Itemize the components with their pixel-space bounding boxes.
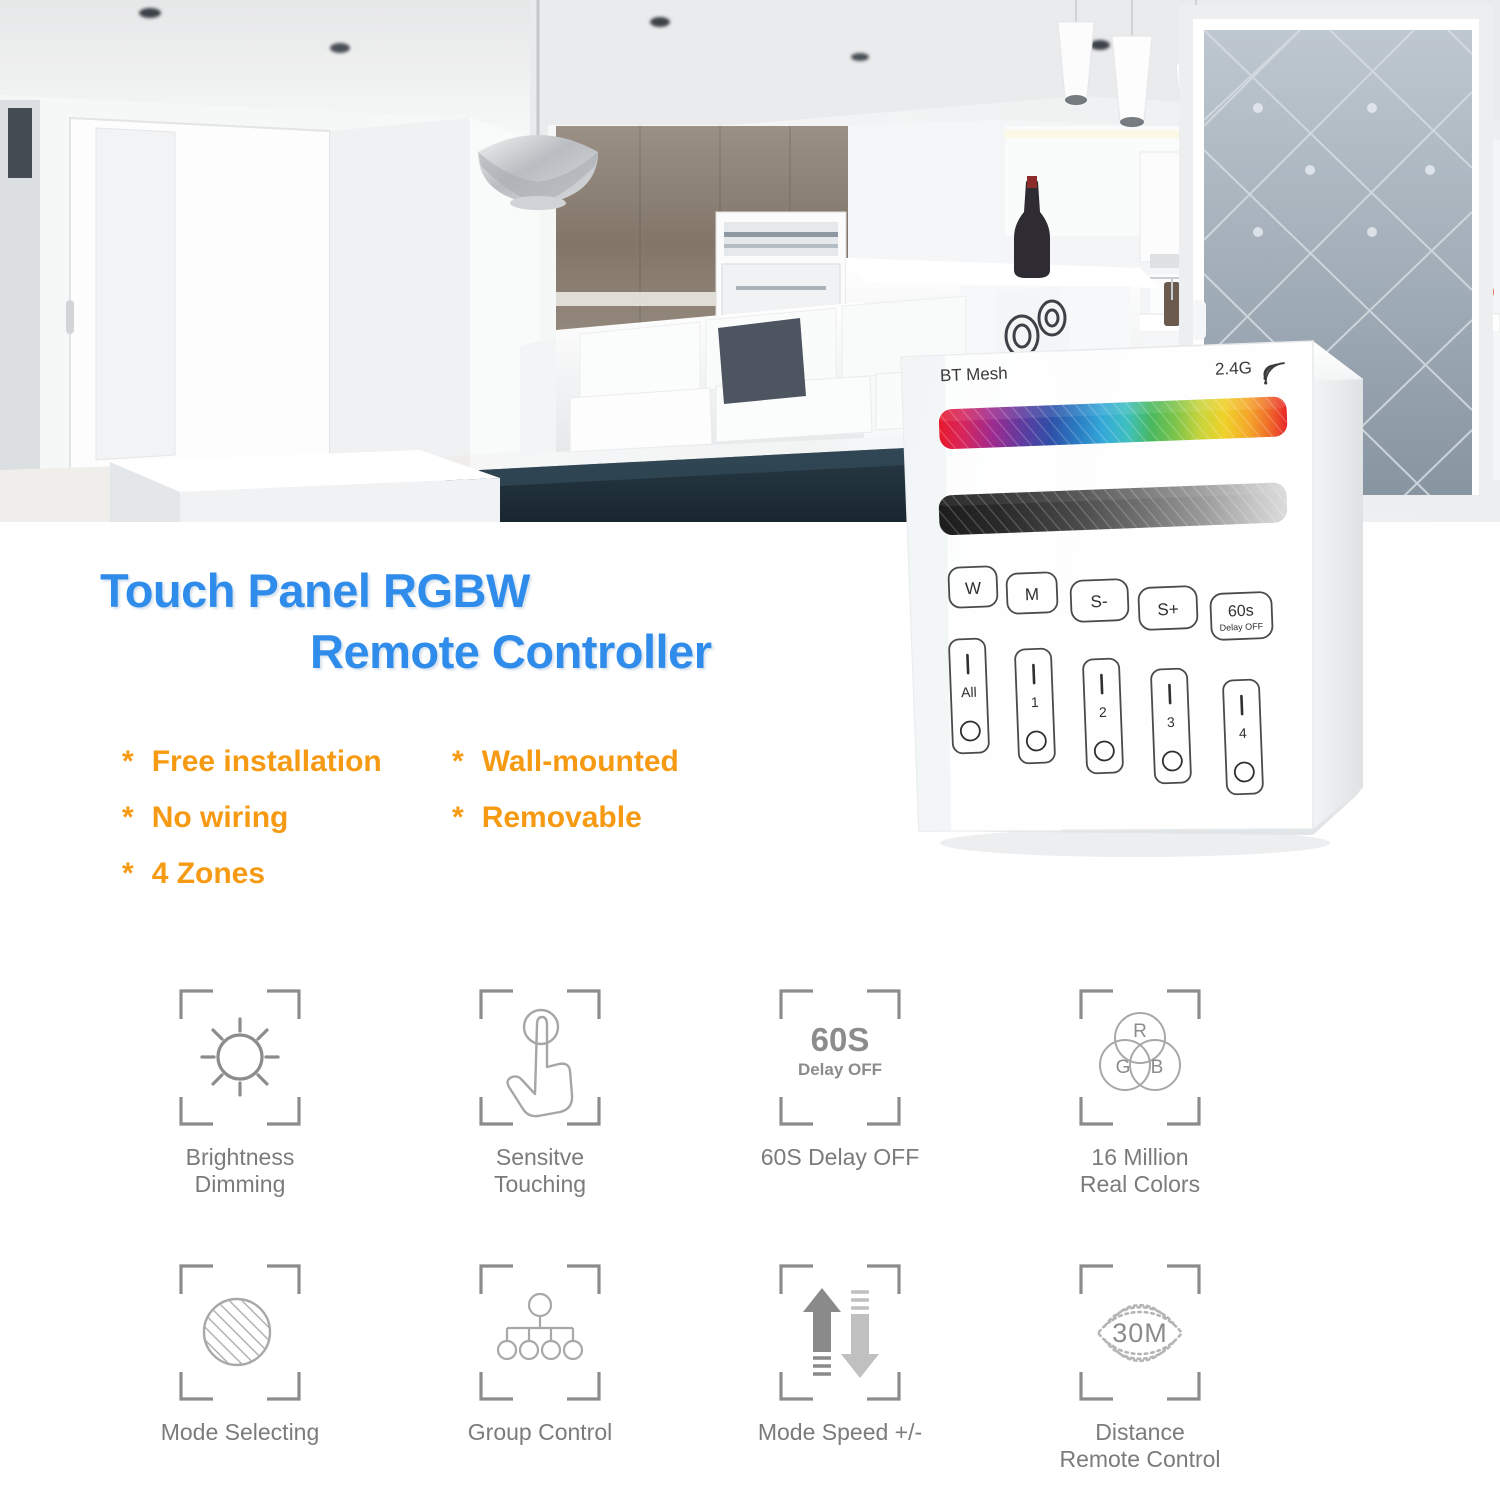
- mode-hatched-circle-icon: [175, 1260, 305, 1405]
- icon-caption: Sensitve Touching: [494, 1144, 586, 1198]
- icon-mode-speed: Mode Speed +/-: [690, 1260, 990, 1473]
- asterisk-icon: *: [122, 745, 134, 779]
- delay-off-60s-icon: 60S Delay OFF: [775, 985, 905, 1130]
- title-line-1: Touch Panel RGBW: [0, 560, 900, 621]
- panel-text-overlay: BT Mesh 2.4G: [895, 335, 1385, 880]
- icon-inner-main: 60S: [811, 1021, 870, 1058]
- rgb-circles-icon: R G B: [1075, 985, 1205, 1130]
- icon-16-million-colors: R G B 16 Million Real Colors: [990, 985, 1290, 1198]
- feature-row: * No wiring * Removable: [0, 801, 820, 835]
- feature-row: * 4 Zones: [0, 857, 820, 891]
- icon-60s-delay-off: 60S Delay OFF 60S Delay OFF: [690, 985, 990, 1198]
- signal-distance-icon: 30M: [1075, 1260, 1205, 1405]
- feature-label: Wall-mounted: [482, 745, 679, 779]
- rgb-r-label: R: [1133, 1021, 1147, 1042]
- feature-wall-mounted: * Wall-mounted: [452, 745, 792, 779]
- feature-row: * Free installation * Wall-mounted: [0, 745, 820, 779]
- icon-row-2: Mode Selecting: [0, 1260, 1500, 1473]
- icon-caption: Brightness Dimming: [186, 1144, 295, 1198]
- icon-brightness-dimming: Brightness Dimming: [90, 985, 390, 1198]
- icon-mode-selecting: Mode Selecting: [90, 1260, 390, 1473]
- icon-inner-main: 30M: [1112, 1318, 1168, 1348]
- rgb-g-label: G: [1116, 1057, 1131, 1078]
- title-line-2: Remote Controller: [0, 621, 900, 682]
- icon-sensitive-touching: Sensitve Touching: [390, 985, 690, 1198]
- brightness-sun-icon: [175, 985, 305, 1130]
- rf-2-4g-label: 2.4G: [1215, 358, 1253, 379]
- touch-panel-device: W M S- S+ 60s Delay OFF All 1 2 3: [895, 335, 1385, 880]
- icon-caption: Mode Selecting: [161, 1419, 320, 1446]
- rgb-b-label: B: [1151, 1057, 1164, 1078]
- icon-group-control: Group Control: [390, 1260, 690, 1473]
- feature-label: Removable: [482, 801, 642, 835]
- product-title: Touch Panel RGBW Remote Controller: [0, 560, 900, 682]
- icon-inner-sub: Delay OFF: [798, 1060, 882, 1079]
- speed-arrows-icon: [775, 1260, 905, 1405]
- feature-label: Free installation: [152, 745, 382, 779]
- feature-label: No wiring: [152, 801, 289, 835]
- feature-no-wiring: * No wiring: [0, 801, 452, 835]
- icon-distance-remote-control: 30M Distance Remote Control: [990, 1260, 1290, 1473]
- asterisk-icon: *: [452, 801, 464, 835]
- feature-icon-grid: Brightness Dimming Sensitve Touching: [0, 985, 1500, 1474]
- feature-label: 4 Zones: [152, 857, 265, 891]
- feature-4-zones: * 4 Zones: [0, 857, 452, 891]
- icon-caption: Distance Remote Control: [1059, 1419, 1220, 1473]
- touch-hand-icon: [475, 985, 605, 1130]
- icon-caption: Group Control: [468, 1419, 612, 1446]
- icon-caption: 16 Million Real Colors: [1080, 1144, 1200, 1198]
- bt-mesh-label: BT Mesh: [940, 364, 1008, 387]
- group-tree-icon: [475, 1260, 605, 1405]
- asterisk-icon: *: [452, 745, 464, 779]
- feature-removable: * Removable: [452, 801, 792, 835]
- icon-row-1: Brightness Dimming Sensitve Touching: [0, 985, 1500, 1198]
- feature-free-installation: * Free installation: [0, 745, 452, 779]
- feature-bullets: * Free installation * Wall-mounted * No …: [0, 745, 820, 913]
- asterisk-icon: *: [122, 857, 134, 891]
- asterisk-icon: *: [122, 801, 134, 835]
- icon-caption: 60S Delay OFF: [761, 1144, 920, 1171]
- icon-caption: Mode Speed +/-: [758, 1419, 922, 1446]
